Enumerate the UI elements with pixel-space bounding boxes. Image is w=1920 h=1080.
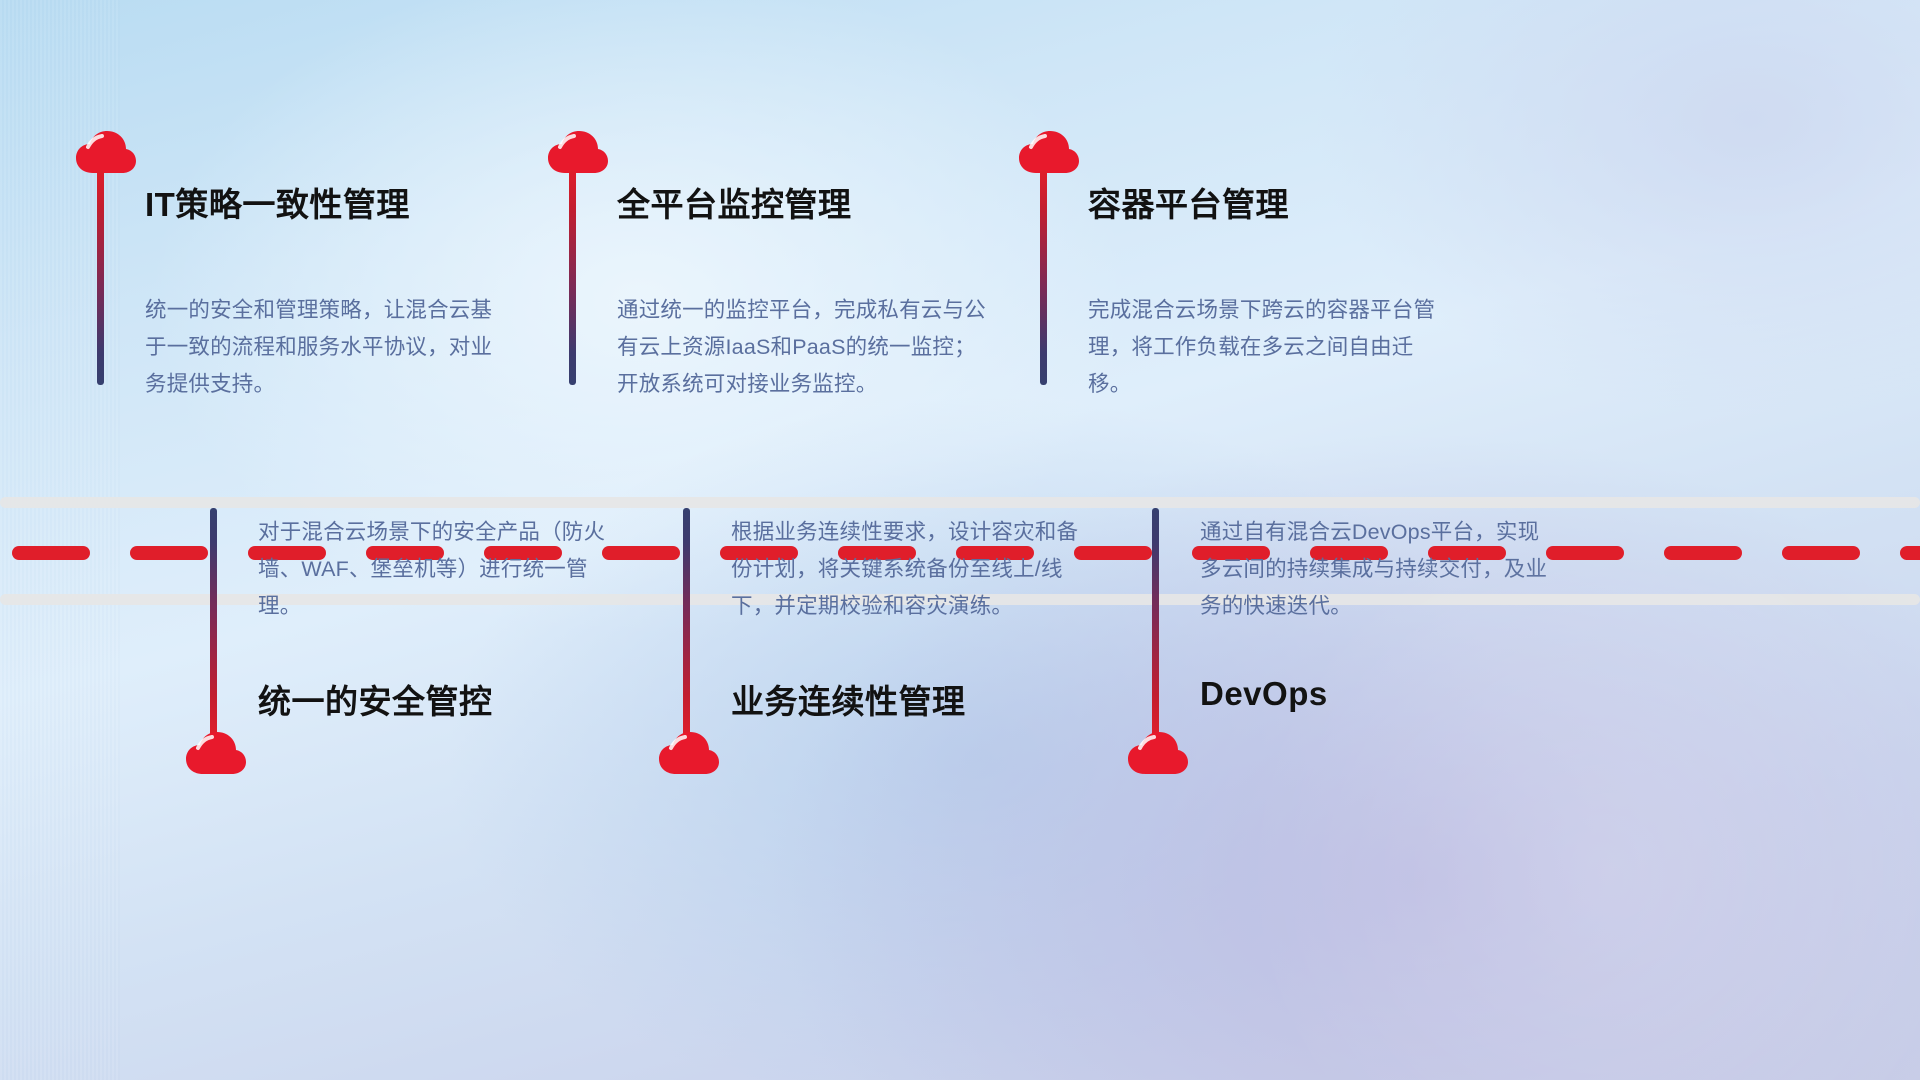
body-container-platform: 完成混合云场景下跨云的容器平台管理，将工作负载在多云之间自由迁移。: [1088, 292, 1450, 403]
road-dash: [1546, 546, 1624, 560]
body-business-continuity: 根据业务连续性要求，设计容灾和备份计划，将关键系统备份至线上/线下，并定期校验和…: [731, 514, 1081, 625]
body-devops: 通过自有混合云DevOps平台，实现多云间的持续集成与持续交付，及业务的快速迭代…: [1200, 514, 1550, 625]
marker-stem: [97, 170, 104, 385]
marker-stem: [569, 170, 576, 385]
body-platform-monitoring: 通过统一的监控平台，完成私有云与公有云上资源IaaS和PaaS的统一监控；开放系…: [617, 292, 989, 403]
cloud-pin-icon: [185, 731, 247, 775]
road-dash: [1074, 546, 1152, 560]
heading-container-platform: 容器平台管理: [1088, 178, 1289, 226]
road-dash: [130, 546, 208, 560]
marker-stem: [683, 508, 690, 738]
road-edge-top: [0, 497, 1920, 508]
heading-business-continuity: 业务连续性管理: [731, 675, 966, 723]
heading-devops: DevOps: [1200, 675, 1328, 713]
road-dash: [1664, 546, 1742, 560]
road-dash: [1782, 546, 1860, 560]
cloud-pin-icon: [658, 731, 720, 775]
heading-it-policy: IT策略一致性管理: [145, 178, 410, 226]
road-dash: [12, 546, 90, 560]
marker-stem: [1040, 170, 1047, 385]
marker-stem: [210, 508, 217, 738]
cloud-pin-icon: [1018, 130, 1080, 174]
body-it-policy: 统一的安全和管理策略，让混合云基于一致的流程和服务水平协议，对业务提供支持。: [145, 292, 500, 403]
cloud-pin-icon: [547, 130, 609, 174]
heading-platform-monitoring: 全平台监控管理: [617, 178, 852, 226]
heading-unified-security: 统一的安全管控: [258, 675, 493, 723]
cloud-pin-icon: [1127, 731, 1189, 775]
cloud-pin-icon: [75, 130, 137, 174]
infographic-canvas: IT策略一致性管理 统一的安全和管理策略，让混合云基于一致的流程和服务水平协议，…: [0, 0, 1920, 1080]
marker-stem: [1152, 508, 1159, 738]
body-unified-security: 对于混合云场景下的安全产品（防火墙、WAF、堡垒机等）进行统一管理。: [258, 514, 608, 625]
road-dash: [1900, 546, 1920, 560]
road-dash: [602, 546, 680, 560]
